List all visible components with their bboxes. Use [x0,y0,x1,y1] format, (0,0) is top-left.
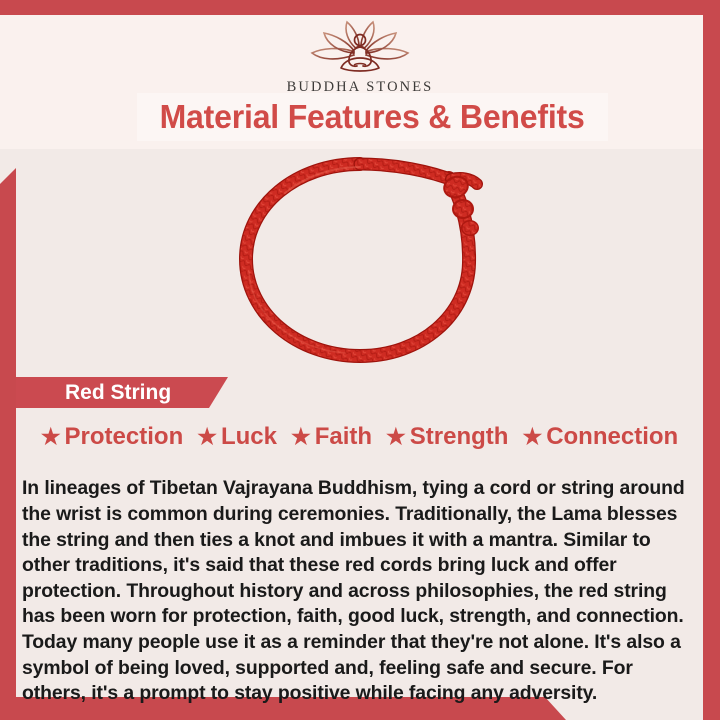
benefit-keyword-luck: ★ Luck [190,423,284,451]
brand-logo: BUDDHA STONES [0,18,720,96]
product-label: Red String [65,381,171,405]
red-string-bracelet-image [225,151,495,369]
star-icon: ★ [291,426,311,448]
infographic-page: BUDDHA STONES Material Features & Benefi… [0,0,720,720]
benefit-keyword-label: Luck [221,423,277,451]
product-label-banner: Red String [16,377,228,408]
benefit-keyword-label: Protection [65,423,184,451]
benefit-keyword-connection: ★ Connection [515,423,685,451]
benefit-keyword-label: Faith [315,423,372,451]
benefit-keywords-row: ★ Protection ★ Luck ★ Faith ★ Strength ★… [16,419,703,454]
product-image-area [16,149,703,369]
star-icon: ★ [386,426,406,448]
benefit-keyword-protection: ★ Protection [34,423,190,451]
lotus-meditation-icon [304,18,416,76]
benefit-keyword-label: Strength [410,423,509,451]
star-icon: ★ [522,426,542,448]
page-title: Material Features & Benefits [160,98,585,136]
frame-right-bar [703,0,720,720]
frame-left-bar [0,168,16,698]
frame-top-bar [0,0,720,15]
star-icon: ★ [41,426,61,448]
star-icon: ★ [197,426,217,448]
page-title-banner: Material Features & Benefits [137,93,608,141]
benefit-keyword-strength: ★ Strength [379,423,515,451]
benefit-keyword-label: Connection [546,423,678,451]
description-paragraph: In lineages of Tibetan Vajrayana Buddhis… [22,476,694,706]
benefit-keyword-faith: ★ Faith [284,423,379,451]
